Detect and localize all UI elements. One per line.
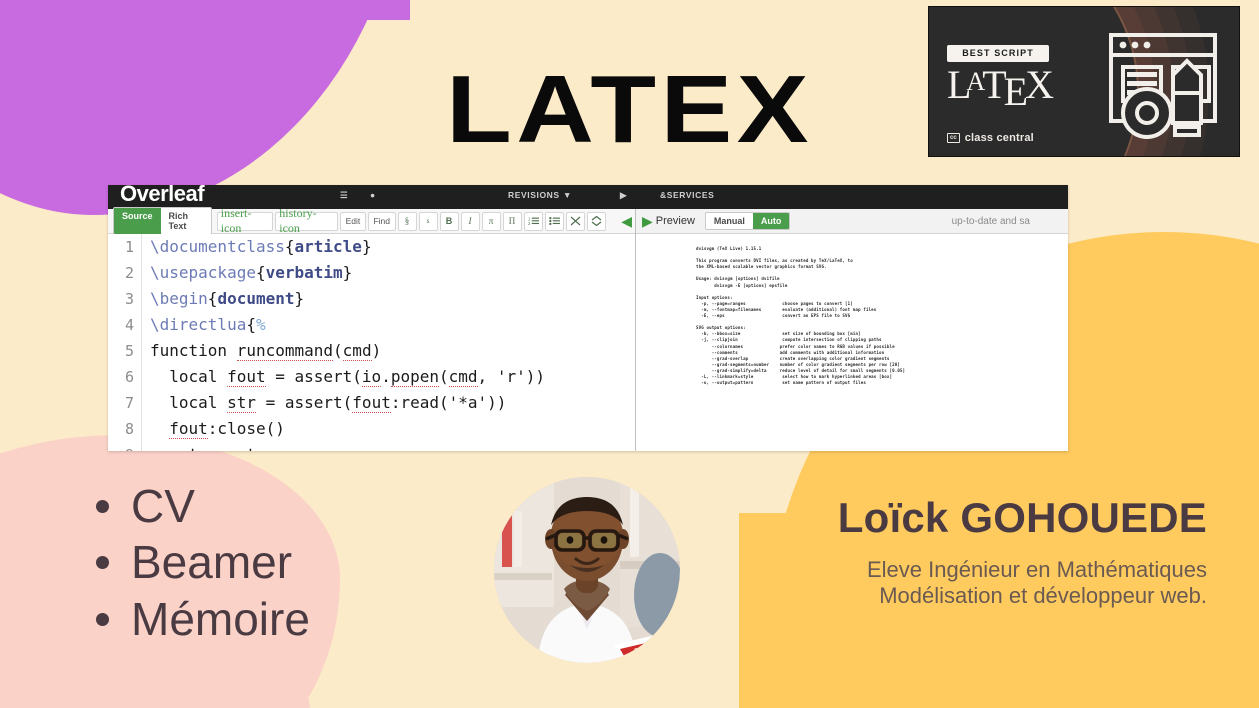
- code-line: local str = assert(fout:read('*a')): [150, 390, 635, 416]
- badge-illustration-icon: [1107, 31, 1225, 148]
- find-button[interactable]: Find: [368, 212, 396, 231]
- bullet-dot-icon: [96, 500, 109, 513]
- insert-icon[interactable]: insert-icon: [217, 212, 274, 231]
- compile-manual-button[interactable]: Manual: [706, 213, 753, 229]
- code-line: \begin{document}: [150, 286, 635, 312]
- source-pane[interactable]: Source Rich Text insert-icon history-ico…: [108, 209, 636, 451]
- editor-panes: Source Rich Text insert-icon history-ico…: [108, 209, 1068, 451]
- menu-item-services[interactable]: &SERVICES: [660, 190, 714, 200]
- inline-math-icon[interactable]: π: [482, 212, 501, 231]
- svg-text:2: 2: [528, 221, 531, 226]
- list-item-label: Beamer: [131, 536, 292, 588]
- list-item: Beamer: [96, 536, 310, 588]
- line-number: 5: [108, 338, 141, 364]
- mode-richtext-button[interactable]: Rich Text: [161, 208, 211, 234]
- code-editor[interactable]: 1 2 3 4 5 6 7 8 9 \documentclass{article…: [108, 234, 635, 451]
- bullet-dot-icon: [96, 613, 109, 626]
- compile-status: up-to-date and sa: [952, 216, 1030, 227]
- play-icon[interactable]: ▶: [620, 190, 627, 201]
- section-icon[interactable]: §: [398, 212, 417, 231]
- avatar: RÉU: [494, 477, 680, 663]
- list-item-label: CV: [131, 480, 195, 532]
- code-line: local fout = assert(io.popen(cmd, 'r')): [150, 364, 635, 390]
- menu-item-revisions[interactable]: REVISIONS: [508, 190, 560, 200]
- edit-button[interactable]: Edit: [340, 212, 366, 231]
- author-subtitle: Eleve Ingénieur en Mathématiques Modélis…: [838, 557, 1207, 609]
- italic-icon[interactable]: I: [461, 212, 480, 231]
- compile-play-icon[interactable]: ▶: [642, 213, 653, 230]
- preview-document: dvisvgm (TeX Live) 1.15.1 This program c…: [636, 234, 1068, 451]
- line-number: 7: [108, 390, 141, 416]
- line-number: 4: [108, 312, 141, 338]
- list-item-label: Mémoire: [131, 593, 310, 645]
- source-toolbar[interactable]: Source Rich Text insert-icon history-ico…: [108, 209, 635, 234]
- line-number-gutter: 1 2 3 4 5 6 7 8 9: [108, 234, 142, 451]
- wordmark-t: T: [982, 62, 1006, 107]
- subsection-icon[interactable]: s: [419, 212, 438, 231]
- author-block: Loïck GOHOUEDE Eleve Ingénieur en Mathém…: [838, 495, 1207, 609]
- code-lines[interactable]: \documentclass{article} \usepackage{verb…: [108, 234, 635, 451]
- code-line: return str: [150, 442, 635, 451]
- mode-source-button[interactable]: Source: [114, 208, 161, 234]
- compile-auto-button[interactable]: Auto: [753, 213, 790, 229]
- line-number: 1: [108, 234, 141, 260]
- list-item: CV: [96, 480, 310, 532]
- code-line: \usepackage{verbatim}: [150, 260, 635, 286]
- code-line: fout:close(): [150, 416, 635, 442]
- bullet-list-icon[interactable]: [545, 212, 564, 231]
- display-math-icon[interactable]: Π: [503, 212, 522, 231]
- badge-source: cc class central: [947, 132, 1034, 144]
- code-line: \directlua{%: [150, 312, 635, 338]
- bold-icon[interactable]: B: [440, 212, 459, 231]
- line-number: 9: [108, 442, 141, 451]
- wordmark-a: A: [966, 67, 985, 96]
- class-central-badge: BEST SCRIPT LATEX cc class central: [928, 6, 1240, 157]
- wordmark-e: E: [1004, 69, 1028, 114]
- line-number: 3: [108, 286, 141, 312]
- compile-mode-toggle[interactable]: Manual Auto: [705, 212, 791, 230]
- list-item: Mémoire: [96, 593, 310, 645]
- history-icon[interactable]: history-icon: [275, 212, 338, 231]
- numbered-list-icon[interactable]: 12: [524, 212, 543, 231]
- creative-commons-icon: cc: [947, 133, 960, 143]
- author-subtitle-line2: Modélisation et développeur web.: [838, 583, 1207, 609]
- line-number: 6: [108, 364, 141, 390]
- line-number: 8: [108, 416, 141, 442]
- overleaf-editor-window[interactable]: Overleaf ☰ ● REVISIONS ▼ ▶ &SERVICES Sou…: [108, 185, 1068, 451]
- menu-dot-icon[interactable]: ●: [370, 190, 376, 200]
- badge-latex-wordmark: LATEX: [947, 65, 1077, 105]
- preview-pane[interactable]: ▶ Preview Manual Auto up-to-date and sa …: [636, 209, 1068, 451]
- author-subtitle-line1: Eleve Ingénieur en Mathématiques: [838, 557, 1207, 583]
- preview-output-text: dvisvgm (TeX Live) 1.15.1 This program c…: [696, 246, 1068, 386]
- collapse-icon[interactable]: [566, 212, 585, 231]
- line-number: 2: [108, 260, 141, 286]
- topic-list: CV Beamer Mémoire: [96, 480, 310, 649]
- chevron-down-icon[interactable]: ▼: [563, 190, 572, 200]
- menu-icon[interactable]: ☰: [340, 190, 348, 201]
- expand-icon[interactable]: [587, 212, 606, 231]
- collapse-pane-icon[interactable]: ◀: [621, 213, 632, 230]
- mode-toggle[interactable]: Source Rich Text: [113, 207, 212, 235]
- bullet-dot-icon: [96, 556, 109, 569]
- preview-label: Preview: [656, 215, 695, 227]
- code-line: \documentclass{article}: [150, 234, 635, 260]
- wordmark-x: X: [1025, 62, 1054, 107]
- author-name: Loïck GOHOUEDE: [838, 495, 1207, 541]
- overleaf-logo[interactable]: Overleaf: [120, 185, 204, 207]
- code-line: function runcommand(cmd): [150, 338, 635, 364]
- preview-toolbar[interactable]: ▶ Preview Manual Auto up-to-date and sa: [636, 209, 1068, 234]
- badge-source-label: class central: [965, 132, 1034, 144]
- badge-pill-label: BEST SCRIPT: [947, 45, 1049, 62]
